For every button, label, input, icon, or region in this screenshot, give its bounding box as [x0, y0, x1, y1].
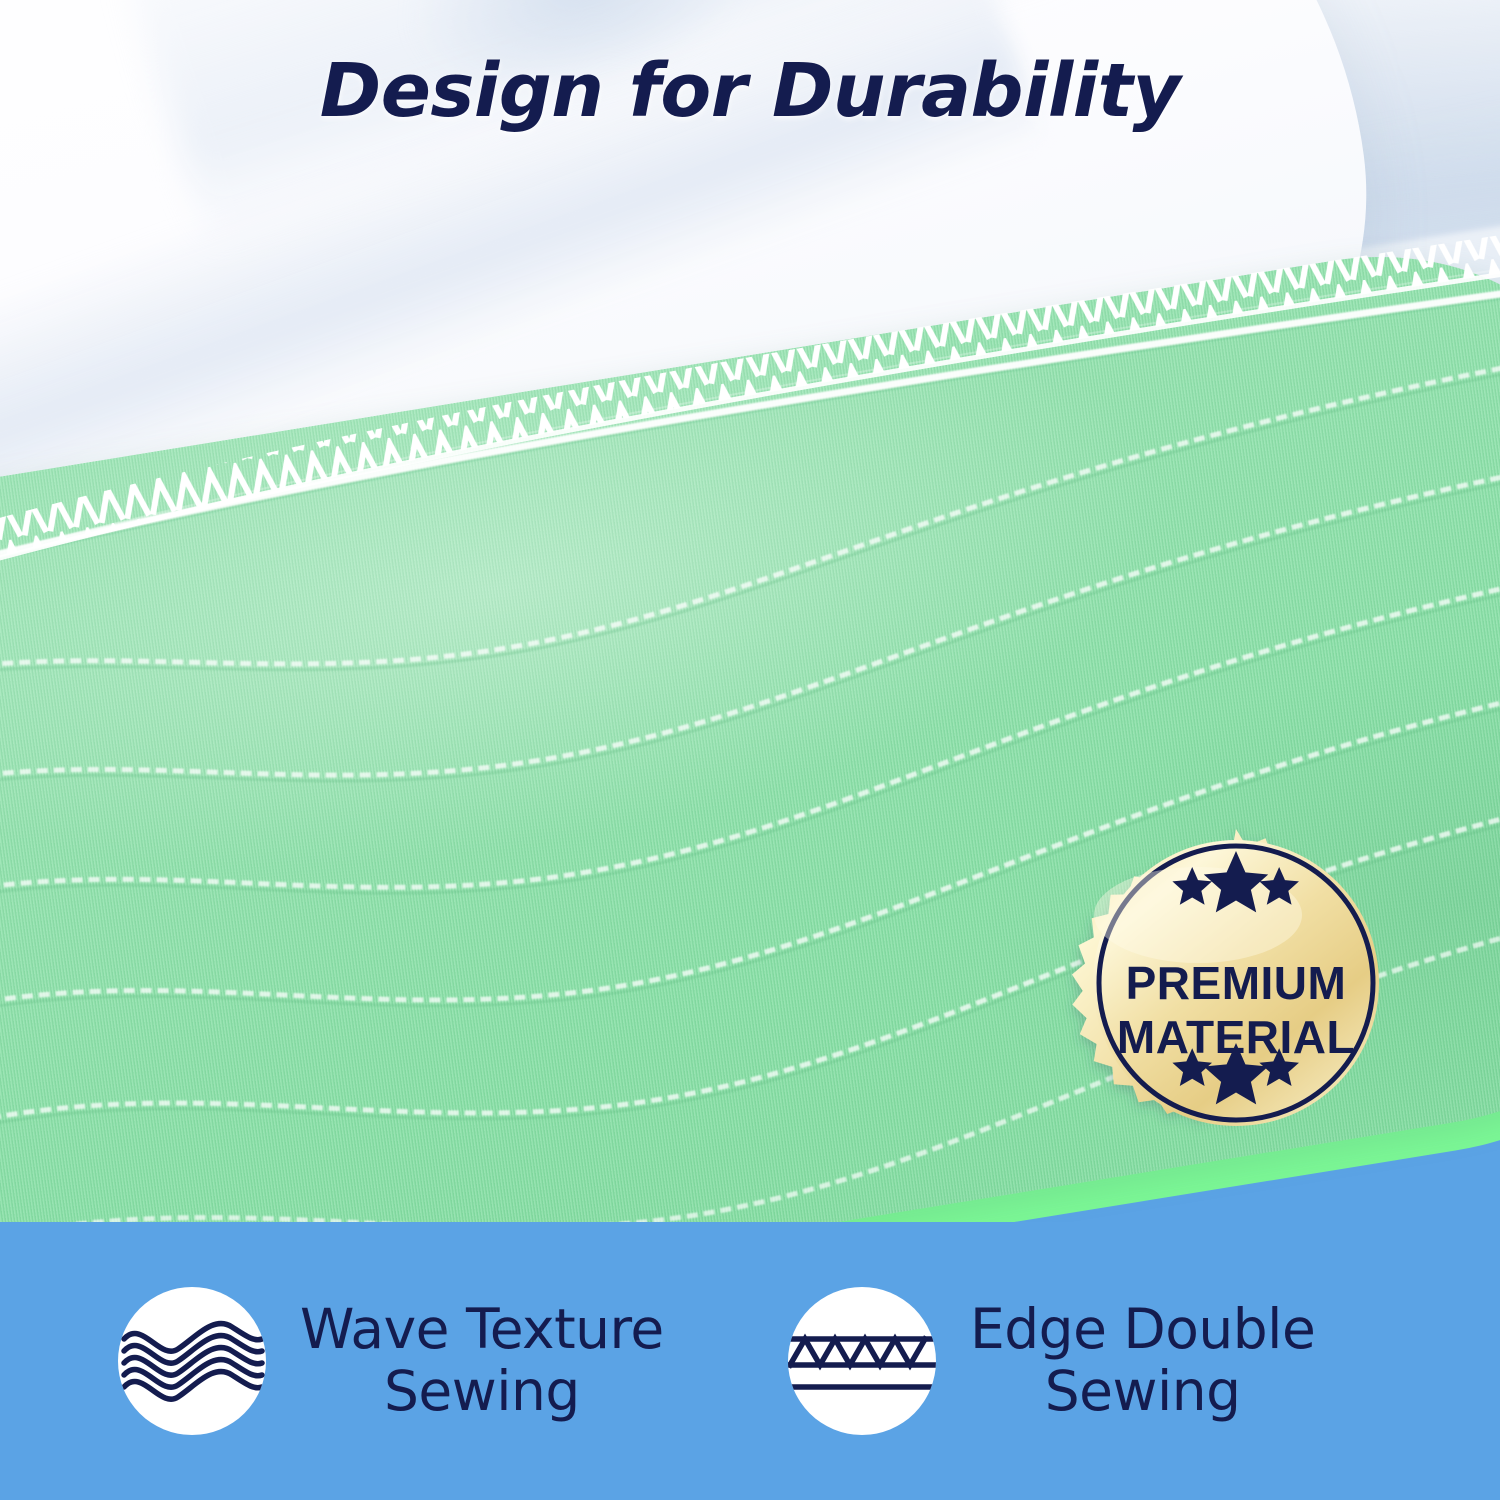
badge-line-2: MATERIAL [1050, 1010, 1422, 1064]
feature-label: Edge Double Sewing [970, 1299, 1315, 1422]
feature-line-2: Sewing [300, 1361, 664, 1423]
feature-label: Wave Texture Sewing [300, 1299, 664, 1422]
wave-lines-icon [118, 1287, 266, 1435]
feature-wave-texture-sewing: Wave Texture Sewing [50, 1287, 750, 1435]
premium-material-badge: PREMIUM MATERIAL [1050, 823, 1422, 1195]
product-photo: Design for Durability [0, 0, 1500, 1222]
feature-edge-double-sewing: Edge Double Sewing [750, 1287, 1450, 1435]
feature-band: Wave Texture Sewing Edge Double Sewing [0, 1222, 1500, 1500]
page-title: Design for Durability [0, 48, 1500, 134]
badge-text: PREMIUM MATERIAL [1050, 956, 1422, 1065]
zigzag-stitch-icon [788, 1287, 936, 1435]
product-feature-image: Design for Durability [0, 0, 1500, 1500]
feature-line-1: Wave Texture [300, 1297, 664, 1361]
badge-line-1: PREMIUM [1126, 957, 1347, 1009]
feature-line-2: Sewing [970, 1361, 1315, 1423]
feature-line-1: Edge Double [970, 1297, 1315, 1361]
